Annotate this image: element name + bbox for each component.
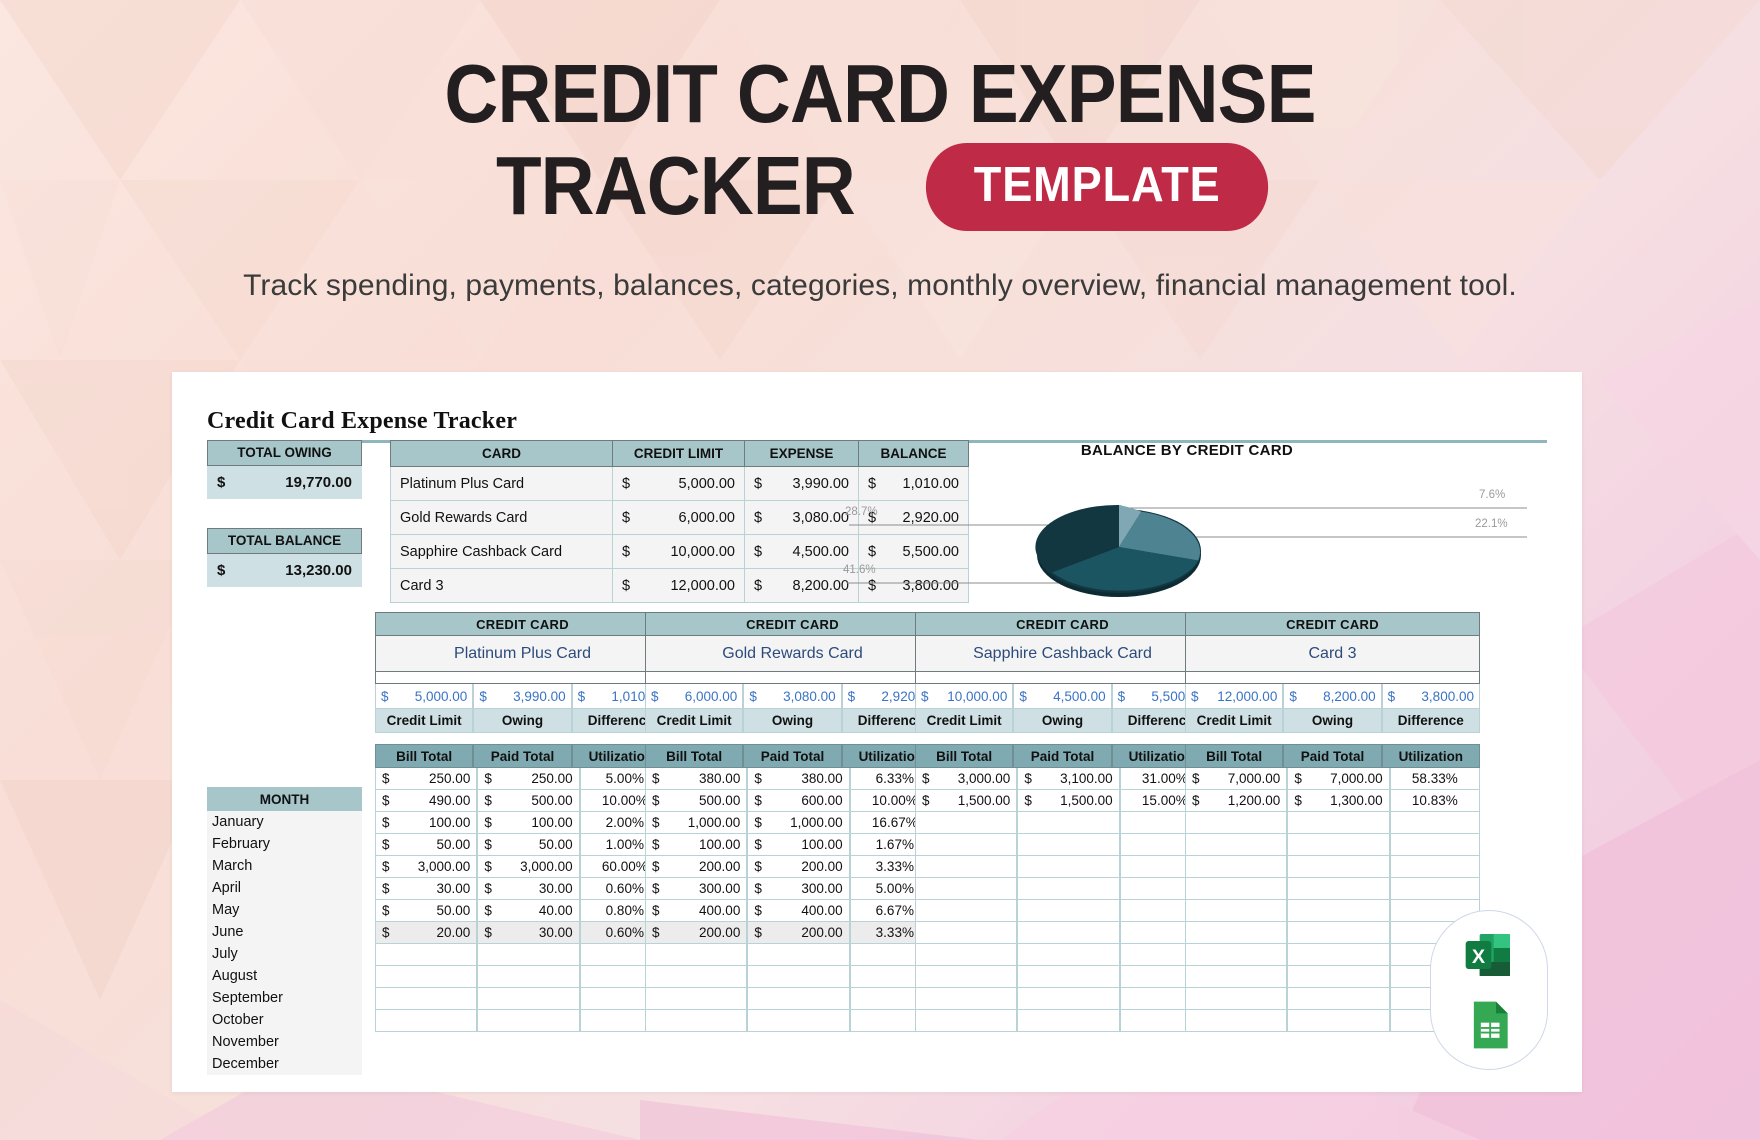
paid-total-cell — [1287, 1010, 1389, 1032]
bill-total-cell — [1185, 966, 1287, 988]
bill-total-cell — [1185, 988, 1287, 1010]
card-block-values: $5,000.00$3,990.00$1,010.00 — [375, 684, 670, 709]
bill-total-cell — [645, 966, 747, 988]
card-block-gap — [1185, 733, 1480, 744]
page-title-line2: TRACKER — [496, 144, 855, 229]
card-block-label-2: Difference — [1382, 709, 1480, 733]
pie-label-platinum: 7.6% — [1479, 489, 1505, 501]
utilization-cell — [1390, 878, 1480, 900]
pie-label-card3: 28.7% — [845, 506, 878, 518]
bill-total-cell: $200.00 — [645, 856, 747, 878]
data-row: $3,000.00$3,000.0060.00% — [375, 856, 670, 878]
total-owing-currency: $ — [217, 474, 225, 491]
data-row: $7,000.00$7,000.0058.33% — [1185, 768, 1480, 790]
data-row — [915, 988, 1210, 1010]
paid-total-cell — [1287, 922, 1389, 944]
bill-total-cell — [915, 922, 1017, 944]
bill-total-cell: $7,000.00 — [1185, 768, 1287, 790]
bill-total-cell: $50.00 — [375, 900, 477, 922]
data-row: $20.00$30.000.60% — [375, 922, 670, 944]
difference-value: $3,800.00 — [1382, 684, 1480, 709]
paid-total-cell — [1017, 856, 1119, 878]
paid-total-cell: $3,000.00 — [477, 856, 579, 878]
bill-total-cell: $250.00 — [375, 768, 477, 790]
subheader-1: Paid Total — [1013, 744, 1111, 768]
utilization-cell: 10.83% — [1390, 790, 1480, 812]
data-row — [1185, 878, 1480, 900]
subheader-1: Paid Total — [1283, 744, 1381, 768]
paid-total-cell: $1,500.00 — [1017, 790, 1119, 812]
paid-total-cell: $1,000.00 — [747, 812, 849, 834]
paid-total-cell — [1017, 944, 1119, 966]
paid-total-cell — [1287, 966, 1389, 988]
card-block-labels: Credit LimitOwingDifference — [915, 709, 1210, 733]
owing-value: $3,080.00 — [743, 684, 841, 709]
card-block-label-0: Credit Limit — [915, 709, 1013, 733]
paid-total-cell — [477, 988, 579, 1010]
bill-total-cell — [1185, 922, 1287, 944]
data-row — [915, 856, 1210, 878]
paid-total-cell: $30.00 — [477, 922, 579, 944]
card-block-label-1: Owing — [1013, 709, 1111, 733]
sheet-title: Credit Card Expense Tracker — [207, 408, 1582, 435]
paid-total-cell — [477, 944, 579, 966]
card-block-label-0: Credit Limit — [645, 709, 743, 733]
subheader-1: Paid Total — [473, 744, 571, 768]
card-block-label-1: Owing — [743, 709, 841, 733]
credit-limit-cell: $12,000.00 — [613, 569, 745, 603]
paid-total-cell — [1287, 878, 1389, 900]
credit-limit-cell: $10,000.00 — [613, 535, 745, 569]
bill-total-cell — [915, 988, 1017, 1010]
excel-icon[interactable]: X — [1461, 927, 1517, 983]
bill-total-cell: $1,200.00 — [1185, 790, 1287, 812]
subheader-0: Bill Total — [375, 744, 473, 768]
total-owing-value-row: $ 19,770.00 — [207, 466, 362, 499]
card-block-subheaders: Bill TotalPaid TotalUtilization — [375, 744, 670, 768]
page-title-row2: TRACKER TEMPLATE — [476, 143, 1283, 231]
data-row: $380.00$380.006.33% — [645, 768, 940, 790]
data-row — [1185, 834, 1480, 856]
paid-total-cell — [747, 966, 849, 988]
card-block-spacer — [1185, 672, 1480, 684]
card-block-spacer — [915, 672, 1210, 684]
bill-total-cell — [375, 944, 477, 966]
utilization-cell — [1390, 834, 1480, 856]
bill-total-cell — [915, 812, 1017, 834]
bill-total-cell: $100.00 — [645, 834, 747, 856]
card-name-cell: Gold Rewards Card — [391, 501, 613, 535]
card-block-name[interactable]: Gold Rewards Card — [645, 636, 940, 672]
data-row — [375, 1010, 670, 1032]
bill-total-cell — [915, 856, 1017, 878]
data-row: $200.00$200.003.33% — [645, 922, 940, 944]
month-rows: JanuaryFebruaryMarchAprilMayJuneJulyAugu… — [207, 811, 362, 1075]
card-block-3: CREDIT CARDSapphire Cashback Card$10,000… — [915, 612, 1210, 1032]
bill-total-cell — [375, 1010, 477, 1032]
paid-total-cell — [1017, 812, 1119, 834]
paid-total-cell: $3,100.00 — [1017, 768, 1119, 790]
credit-limit-value: $5,000.00 — [375, 684, 473, 709]
paid-total-cell — [477, 1010, 579, 1032]
data-row — [645, 966, 940, 988]
card-block-labels: Credit LimitOwingDifference — [1185, 709, 1480, 733]
pie-label-sapphire: 41.6% — [843, 564, 876, 576]
bill-total-cell — [1185, 812, 1287, 834]
total-balance-value-row: $ 13,230.00 — [207, 554, 362, 587]
data-row — [375, 944, 670, 966]
paid-total-cell — [1017, 1010, 1119, 1032]
total-balance-label: TOTAL BALANCE — [207, 528, 362, 554]
data-row: $30.00$30.000.60% — [375, 878, 670, 900]
month-row: August — [207, 965, 362, 987]
card-name-cell: Card 3 — [391, 569, 613, 603]
data-row: $200.00$200.003.33% — [645, 856, 940, 878]
file-format-badge: X — [1430, 910, 1548, 1070]
data-row — [915, 900, 1210, 922]
bill-total-cell: $1,000.00 — [645, 812, 747, 834]
svg-text:X: X — [1472, 946, 1486, 968]
bill-total-cell — [915, 900, 1017, 922]
card-block-section-label: CREDIT CARD — [645, 612, 940, 636]
bill-total-cell: $380.00 — [645, 768, 747, 790]
paid-total-cell — [1287, 988, 1389, 1010]
paid-total-cell: $300.00 — [747, 878, 849, 900]
card-block-labels: Credit LimitOwingDifference — [645, 709, 940, 733]
bill-total-cell — [1185, 944, 1287, 966]
data-row: $400.00$400.006.67% — [645, 900, 940, 922]
bill-total-cell: $20.00 — [375, 922, 477, 944]
data-row — [645, 988, 940, 1010]
data-row — [375, 988, 670, 1010]
card-block-spacer — [645, 672, 940, 684]
bill-total-cell — [1185, 1010, 1287, 1032]
summary-section: TOTAL OWING $ 19,770.00 TOTAL BALANCE $ … — [207, 440, 1547, 600]
data-row: $3,000.00$3,100.0031.00% — [915, 768, 1210, 790]
bill-total-cell — [375, 988, 477, 1010]
data-row — [915, 1010, 1210, 1032]
card-block-name[interactable]: Platinum Plus Card — [375, 636, 670, 672]
paid-total-cell — [1017, 922, 1119, 944]
data-row — [1185, 900, 1480, 922]
month-row: October — [207, 1009, 362, 1031]
totals-spacer — [207, 499, 362, 528]
data-row: $500.00$600.0010.00% — [645, 790, 940, 812]
bill-total-cell: $300.00 — [645, 878, 747, 900]
page-subtitle: Track spending, payments, balances, cate… — [243, 269, 1517, 303]
bill-total-cell: $3,000.00 — [915, 768, 1017, 790]
card-block-section-label: CREDIT CARD — [1185, 612, 1480, 636]
data-row: $1,500.00$1,500.0015.00% — [915, 790, 1210, 812]
data-row: $100.00$100.002.00% — [375, 812, 670, 834]
paid-total-cell — [1287, 834, 1389, 856]
totals-block: TOTAL OWING $ 19,770.00 TOTAL BALANCE $ … — [207, 440, 362, 587]
month-row: February — [207, 833, 362, 855]
card-block-subheaders: Bill TotalPaid TotalUtilization — [645, 744, 940, 768]
month-row: July — [207, 943, 362, 965]
bill-total-cell: $200.00 — [645, 922, 747, 944]
subheader-0: Bill Total — [1185, 744, 1283, 768]
card-block-gap — [375, 733, 670, 744]
paid-total-cell: $30.00 — [477, 878, 579, 900]
subheader-1: Paid Total — [743, 744, 841, 768]
bill-total-cell — [645, 944, 747, 966]
credit-limit-value: $6,000.00 — [645, 684, 743, 709]
utilization-cell — [1390, 812, 1480, 834]
owing-value: $4,500.00 — [1013, 684, 1111, 709]
col-credit-limit: CREDIT LIMIT — [613, 441, 745, 467]
paid-total-cell: $200.00 — [747, 922, 849, 944]
bill-total-cell — [915, 834, 1017, 856]
paid-total-cell: $50.00 — [477, 834, 579, 856]
total-balance-currency: $ — [217, 562, 225, 579]
data-row: $490.00$500.0010.00% — [375, 790, 670, 812]
card-block-values: $10,000.00$4,500.00$5,500.00 — [915, 684, 1210, 709]
bill-total-cell — [915, 1010, 1017, 1032]
month-row: December — [207, 1053, 362, 1075]
card-name-cell: Sapphire Cashback Card — [391, 535, 613, 569]
paid-total-cell: $500.00 — [477, 790, 579, 812]
credit-limit-value: $12,000.00 — [1185, 684, 1283, 709]
paid-total-cell: $380.00 — [747, 768, 849, 790]
data-row — [1185, 812, 1480, 834]
bill-total-cell: $500.00 — [645, 790, 747, 812]
credit-limit-cell: $6,000.00 — [613, 501, 745, 535]
data-row: $250.00$250.005.00% — [375, 768, 670, 790]
data-row: $100.00$100.001.67% — [645, 834, 940, 856]
pie-chart-svg — [827, 459, 1547, 609]
card-block-1: CREDIT CARDPlatinum Plus Card$5,000.00$3… — [375, 612, 670, 1032]
data-row — [915, 812, 1210, 834]
data-row: $1,200.00$1,300.0010.83% — [1185, 790, 1480, 812]
total-owing-amount: 19,770.00 — [285, 474, 352, 491]
data-row — [375, 966, 670, 988]
data-row: $50.00$40.000.80% — [375, 900, 670, 922]
bill-total-cell — [645, 988, 747, 1010]
paid-total-cell — [747, 988, 849, 1010]
paid-total-cell — [1287, 856, 1389, 878]
spreadsheet-sheet: Credit Card Expense Tracker TOTAL OWING … — [172, 372, 1582, 1092]
bill-total-cell — [915, 944, 1017, 966]
card-block-labels: Credit LimitOwingDifference — [375, 709, 670, 733]
month-row: June — [207, 921, 362, 943]
bill-total-cell — [1185, 856, 1287, 878]
total-owing-label: TOTAL OWING — [207, 440, 362, 466]
template-badge: TEMPLATE — [926, 143, 1269, 231]
owing-value: $3,990.00 — [473, 684, 571, 709]
bill-total-cell — [1185, 878, 1287, 900]
paid-total-cell — [477, 966, 579, 988]
paid-total-cell — [1287, 944, 1389, 966]
paid-total-cell — [1017, 900, 1119, 922]
month-row: January — [207, 811, 362, 833]
card-name-cell: Platinum Plus Card — [391, 467, 613, 501]
paid-total-cell — [1287, 812, 1389, 834]
data-row — [915, 966, 1210, 988]
subheader-0: Bill Total — [915, 744, 1013, 768]
owing-value: $8,200.00 — [1283, 684, 1381, 709]
col-card: CARD — [391, 441, 613, 467]
paid-total-cell — [1017, 878, 1119, 900]
credit-limit-cell: $5,000.00 — [613, 467, 745, 501]
bill-total-cell: $490.00 — [375, 790, 477, 812]
pie-label-gold: 22.1% — [1475, 518, 1508, 530]
card-block-values: $12,000.00$8,200.00$3,800.00 — [1185, 684, 1480, 709]
utilization-cell: 58.33% — [1390, 768, 1480, 790]
data-row: $300.00$300.005.00% — [645, 878, 940, 900]
card-block-spacer — [375, 672, 670, 684]
month-row: November — [207, 1031, 362, 1053]
month-row: April — [207, 877, 362, 899]
month-column: MONTH JanuaryFebruaryMarchAprilMayJuneJu… — [207, 612, 362, 1075]
card-block-gap — [645, 733, 940, 744]
data-row: $50.00$50.001.00% — [375, 834, 670, 856]
month-row: September — [207, 987, 362, 1009]
data-row — [1185, 856, 1480, 878]
chart-title: BALANCE BY CREDIT CARD — [827, 442, 1547, 459]
card-block-label-1: Owing — [473, 709, 571, 733]
bill-total-cell: $1,500.00 — [915, 790, 1017, 812]
data-row — [915, 834, 1210, 856]
paid-total-cell — [1287, 900, 1389, 922]
paid-total-cell — [747, 1010, 849, 1032]
paid-total-cell: $100.00 — [747, 834, 849, 856]
card-block-subheaders: Bill TotalPaid TotalUtilization — [915, 744, 1210, 768]
paid-total-cell: $250.00 — [477, 768, 579, 790]
bill-total-cell — [645, 1010, 747, 1032]
google-sheets-icon[interactable] — [1461, 997, 1517, 1053]
paid-total-cell: $1,300.00 — [1287, 790, 1389, 812]
card-block-label-0: Credit Limit — [375, 709, 473, 733]
card-block-label-0: Credit Limit — [1185, 709, 1283, 733]
page-title-line1: CREDIT CARD EXPENSE — [444, 52, 1315, 137]
data-row — [915, 922, 1210, 944]
paid-total-cell: $100.00 — [477, 812, 579, 834]
bill-total-cell — [1185, 834, 1287, 856]
credit-limit-value: $10,000.00 — [915, 684, 1013, 709]
total-balance-amount: 13,230.00 — [285, 562, 352, 579]
card-block-label-1: Owing — [1283, 709, 1381, 733]
paid-total-cell: $7,000.00 — [1287, 768, 1389, 790]
bill-total-cell — [375, 966, 477, 988]
data-row: $1,000.00$1,000.0016.67% — [645, 812, 940, 834]
data-row — [645, 944, 940, 966]
card-block-2: CREDIT CARDGold Rewards Card$6,000.00$3,… — [645, 612, 940, 1032]
page-header: CREDIT CARD EXPENSE TRACKER TEMPLATE Tra… — [0, 0, 1760, 372]
card-block-gap — [915, 733, 1210, 744]
card-block-section-label: CREDIT CARD — [915, 612, 1210, 636]
bill-total-cell: $400.00 — [645, 900, 747, 922]
card-block-subheaders: Bill TotalPaid TotalUtilization — [1185, 744, 1480, 768]
card-block-name[interactable]: Card 3 — [1185, 636, 1480, 672]
paid-total-cell: $400.00 — [747, 900, 849, 922]
balance-pie-chart: BALANCE BY CREDIT CARD — [827, 434, 1547, 606]
paid-total-cell — [747, 944, 849, 966]
bill-total-cell: $30.00 — [375, 878, 477, 900]
subheader-2: Utilization — [1382, 744, 1480, 768]
month-row: March — [207, 855, 362, 877]
paid-total-cell — [1017, 834, 1119, 856]
month-row: May — [207, 899, 362, 921]
bill-total-cell — [915, 878, 1017, 900]
data-row — [915, 944, 1210, 966]
card-block-name[interactable]: Sapphire Cashback Card — [915, 636, 1210, 672]
subheader-0: Bill Total — [645, 744, 743, 768]
paid-total-cell: $40.00 — [477, 900, 579, 922]
paid-total-cell: $600.00 — [747, 790, 849, 812]
paid-total-cell: $200.00 — [747, 856, 849, 878]
paid-total-cell — [1017, 988, 1119, 1010]
paid-total-cell — [1017, 966, 1119, 988]
data-row — [915, 878, 1210, 900]
utilization-cell — [1390, 856, 1480, 878]
bill-total-cell: $100.00 — [375, 812, 477, 834]
card-block-values: $6,000.00$3,080.00$2,920.00 — [645, 684, 940, 709]
bill-total-cell — [915, 966, 1017, 988]
bill-total-cell: $3,000.00 — [375, 856, 477, 878]
bill-total-cell — [1185, 900, 1287, 922]
bill-total-cell: $50.00 — [375, 834, 477, 856]
month-column-spacer — [207, 612, 362, 787]
card-block-section-label: CREDIT CARD — [375, 612, 670, 636]
data-row — [645, 1010, 940, 1032]
month-header: MONTH — [207, 787, 362, 811]
